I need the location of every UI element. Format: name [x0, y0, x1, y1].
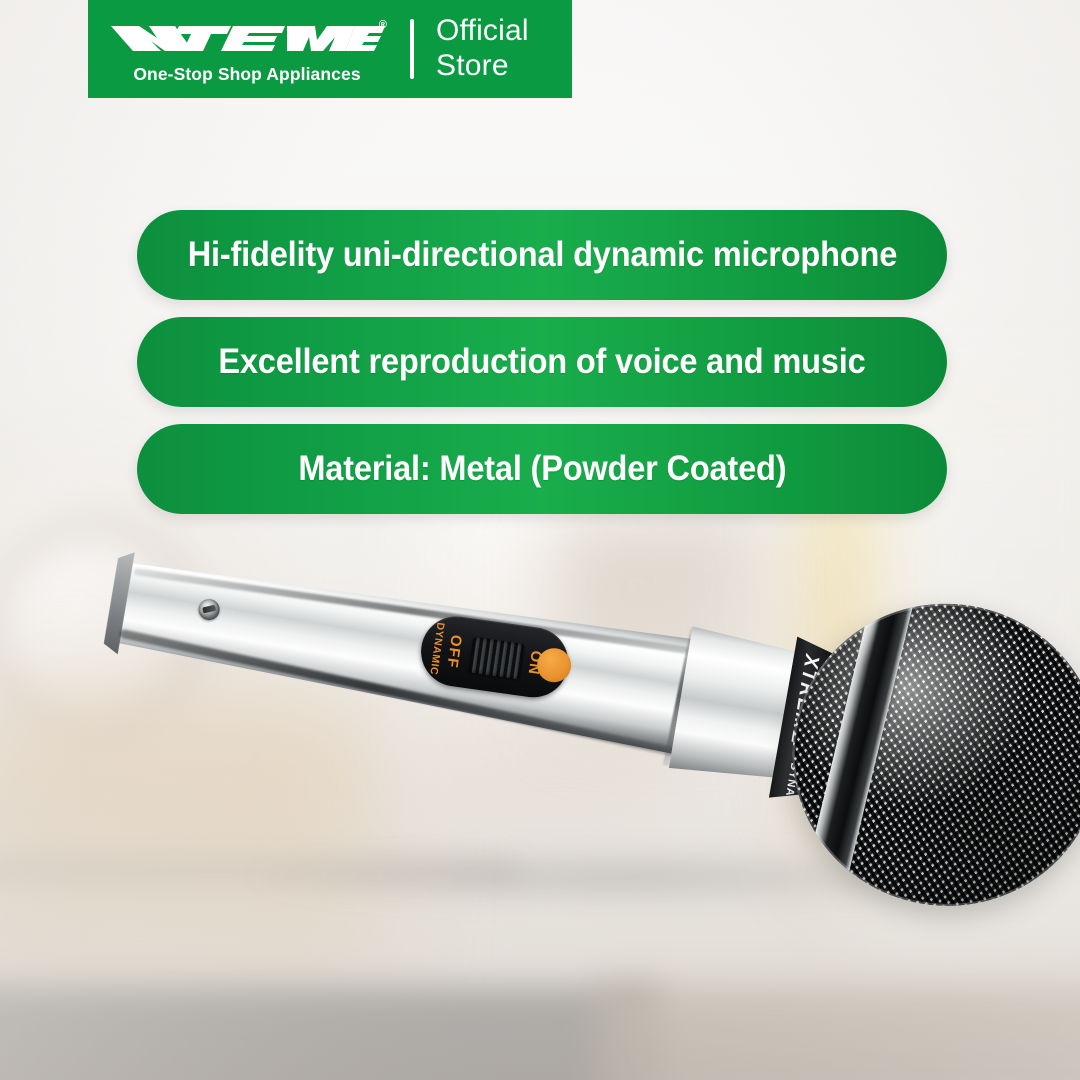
official-store-line-1: Official	[436, 14, 529, 49]
feature-label-1: Hi-fidelity uni-directional dynamic micr…	[187, 235, 896, 275]
feature-label-2: Excellent reproduction of voice and musi…	[218, 342, 865, 382]
registered-trademark-icon: ®	[379, 20, 387, 31]
feature-pill-2: Excellent reproduction of voice and musi…	[137, 317, 947, 407]
switch-off-label: OFF	[443, 633, 465, 669]
brand-tagline: One-Stop Shop Appliances	[133, 64, 360, 85]
microphone-grille	[770, 580, 1080, 929]
official-store-line-2: Store	[436, 49, 529, 84]
official-store-banner: ® One-Stop Shop Appliances Official Stor…	[88, 0, 572, 98]
switch-slider-knob[interactable]	[468, 637, 525, 680]
xtreme-wordmark-icon: ®	[109, 18, 385, 60]
product-image-microphone: DYNAMIC OFF ON XTREME DYNA	[95, 585, 1025, 915]
feature-label-3: Material: Metal (Powder Coated)	[298, 449, 786, 489]
feature-pill-1: Hi-fidelity uni-directional dynamic micr…	[137, 210, 947, 300]
official-store-label: Official Store	[436, 14, 529, 84]
brand-logo-group: ® One-Stop Shop Appliances	[88, 14, 406, 85]
banner-divider	[410, 19, 414, 79]
product-banner: ® One-Stop Shop Appliances Official Stor…	[0, 0, 1080, 1080]
